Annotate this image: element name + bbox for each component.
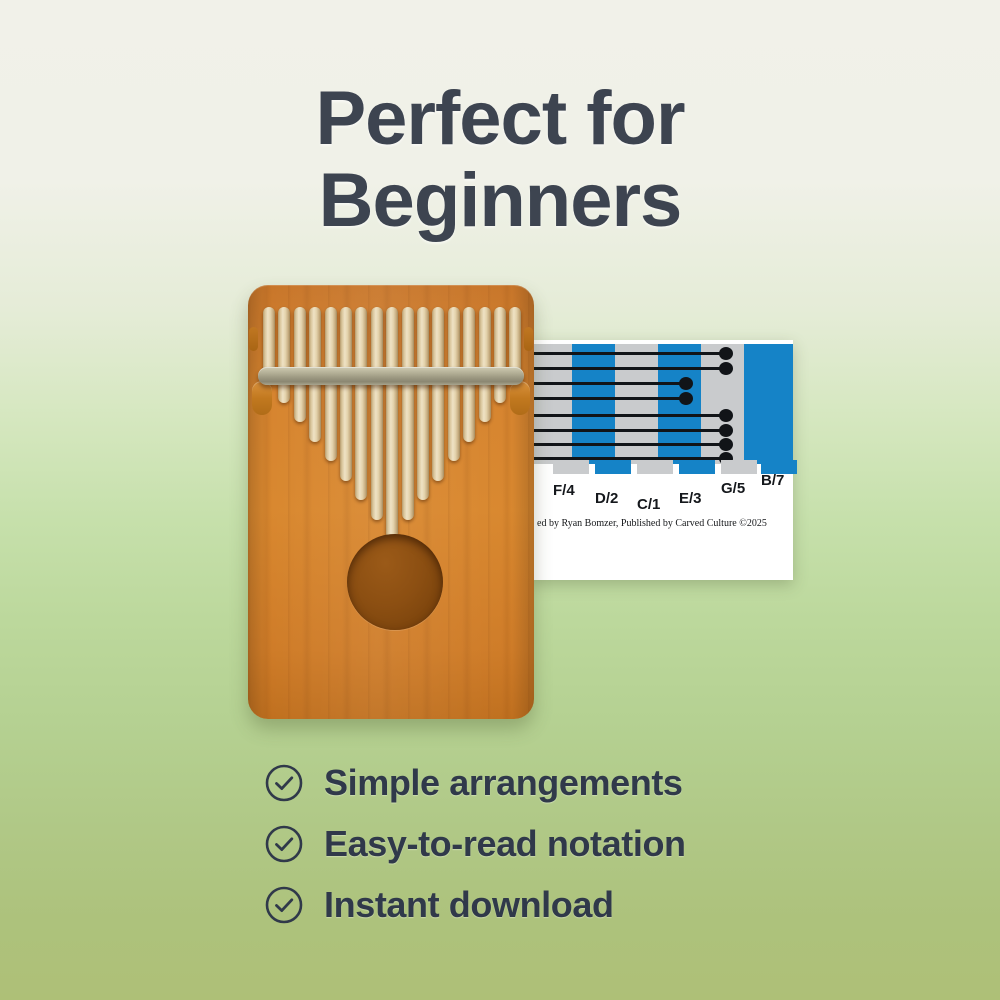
label-tab-0 — [553, 460, 589, 474]
tine-3 — [294, 307, 306, 422]
staff-line-6 — [529, 429, 725, 432]
list-item: Easy-to-read notation — [264, 813, 884, 874]
list-item: Instant download — [264, 874, 884, 935]
list-item-label: Simple arrangements — [324, 762, 683, 804]
check-circle-icon — [264, 824, 304, 864]
tine-11 — [417, 307, 429, 500]
page-title: Perfect for Beginners — [0, 78, 1000, 242]
staff-line-7 — [529, 443, 725, 446]
feature-list: Simple arrangementsEasy-to-read notation… — [264, 752, 884, 935]
tine-9 — [386, 307, 398, 539]
sound-hole — [347, 534, 443, 630]
note-head-1 — [719, 347, 733, 360]
promo-graphic: Perfect for Beginners F/4D/2C/1E/3G/5B/7… — [0, 0, 1000, 1000]
note-head-4 — [679, 392, 693, 405]
side-nub-left — [249, 327, 258, 351]
note-label-row: F/4D/2C/1E/3G/5B/7 — [529, 460, 793, 494]
staff-line-3 — [529, 382, 685, 385]
tine-7 — [355, 307, 367, 500]
tine-16 — [494, 307, 506, 403]
label-tab-1 — [595, 460, 631, 474]
tab-column-d-2 — [572, 344, 615, 464]
tablature-chart — [529, 344, 793, 464]
headline-line-2: Beginners — [0, 160, 1000, 242]
sheet-music-card: F/4D/2C/1E/3G/5B/7 ed by Ryan Bomzer, Pu… — [529, 340, 793, 580]
tab-column-f-4 — [529, 344, 572, 464]
kalimba-body — [248, 285, 534, 719]
tab-column-b-7 — [744, 344, 793, 464]
note-label-b-7: B/7 — [761, 472, 784, 489]
tine-2 — [278, 307, 290, 403]
staff-line-5 — [529, 414, 725, 417]
tine-10 — [402, 307, 414, 520]
note-label-f-4: F/4 — [553, 482, 575, 499]
note-head-6 — [719, 424, 733, 437]
check-circle-icon — [264, 885, 304, 925]
staff-line-4 — [529, 397, 685, 400]
check-circle-icon — [264, 763, 304, 803]
tab-column-c-1 — [615, 344, 658, 464]
headline-line-1: Perfect for — [0, 78, 1000, 160]
credit-line: ed by Ryan Bomzer, Published by Carved C… — [537, 518, 793, 529]
label-tab-2 — [637, 460, 673, 474]
bridge-post-right — [510, 381, 530, 415]
note-label-d-2: D/2 — [595, 490, 618, 507]
side-nub-right — [524, 327, 533, 351]
list-item-label: Instant download — [324, 884, 614, 926]
note-label-g-5: G/5 — [721, 480, 745, 497]
list-item-label: Easy-to-read notation — [324, 823, 686, 865]
label-tab-4 — [721, 460, 757, 474]
tine-12 — [432, 307, 444, 481]
bridge-post-left — [252, 381, 272, 415]
tine-6 — [340, 307, 352, 481]
note-head-2 — [719, 362, 733, 375]
note-head-5 — [719, 409, 733, 422]
tine-15 — [479, 307, 491, 422]
note-head-7 — [719, 438, 733, 451]
note-head-3 — [679, 377, 693, 390]
tine-8 — [371, 307, 383, 520]
bridge-bar — [258, 367, 524, 385]
staff-line-2 — [529, 367, 725, 370]
staff-line-1 — [529, 352, 725, 355]
list-item: Simple arrangements — [264, 752, 884, 813]
tab-column-e-3 — [658, 344, 701, 464]
label-tab-3 — [679, 460, 715, 474]
note-label-c-1: C/1 — [637, 496, 660, 513]
note-label-e-3: E/3 — [679, 490, 702, 507]
